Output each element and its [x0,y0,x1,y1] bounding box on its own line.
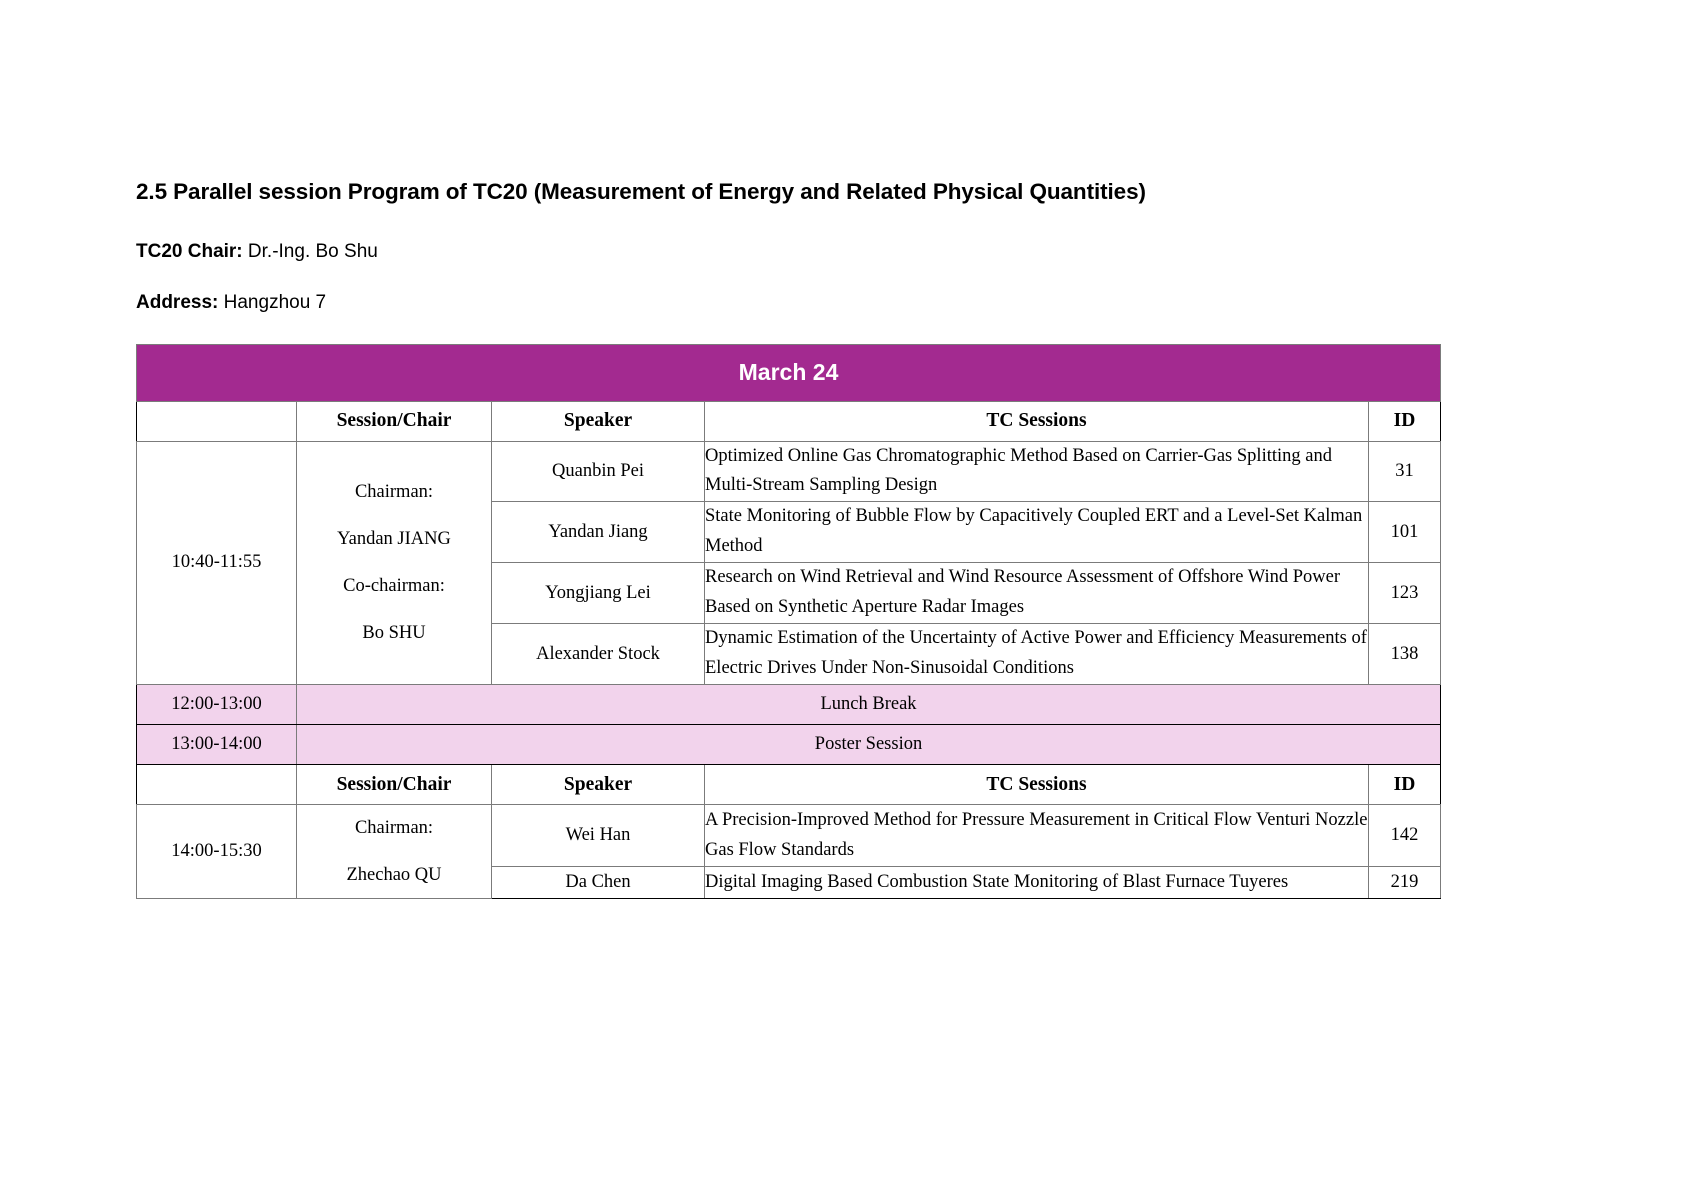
column-header-row-1: Session/Chair Speaker TC Sessions ID [137,401,1441,441]
day-header-cell: March 24 [137,344,1441,401]
tc20-chair-value: Dr.-Ing. Bo Shu [248,241,378,262]
table-row: 14:00-15:30 Chairman: Zhechao QU Wei Han… [137,805,1441,867]
session-title: Digital Imaging Based Combustion State M… [705,867,1369,899]
speaker-name: Da Chen [492,867,705,899]
column-header-speaker-1: Speaker [492,401,705,441]
session-1-chair-line-2: Co-chairman: [297,563,491,610]
column-header-session-chair-1: Session/Chair [297,401,492,441]
speaker-name: Yongjiang Lei [492,563,705,624]
lunch-break-time: 12:00-13:00 [137,685,297,725]
session-id: 138 [1369,624,1441,685]
lunch-break-row: 12:00-13:00 Lunch Break [137,685,1441,725]
column-header-id-1: ID [1369,401,1441,441]
session-2-chair-line-1: Zhechao QU [297,852,491,898]
session-id: 142 [1369,805,1441,867]
column-header-tc-sessions-2: TC Sessions [705,765,1369,805]
poster-session-row: 13:00-14:00 Poster Session [137,725,1441,765]
document-page: 2.5 Parallel session Program of TC20 (Me… [0,0,1683,1190]
column-header-time-2 [137,765,297,805]
session-id: 31 [1369,441,1441,502]
speaker-name: Wei Han [492,805,705,867]
session-title: Optimized Online Gas Chromatographic Met… [705,441,1369,502]
speaker-name: Yandan Jiang [492,502,705,563]
table-row: 10:40-11:55 Chairman: Yandan JIANG Co-ch… [137,441,1441,502]
speaker-name: Alexander Stock [492,624,705,685]
column-header-id-2: ID [1369,765,1441,805]
poster-session-time: 13:00-14:00 [137,725,297,765]
column-header-tc-sessions-1: TC Sessions [705,401,1369,441]
session-2-time: 14:00-15:30 [137,805,297,899]
session-title: Dynamic Estimation of the Uncertainty of… [705,624,1369,685]
tc20-chair-label: TC20 Chair: [136,241,243,262]
session-1-chair-line-3: Bo SHU [297,610,491,657]
session-1-time: 10:40-11:55 [137,441,297,685]
speaker-name: Quanbin Pei [492,441,705,502]
session-2-chairs: Chairman: Zhechao QU [297,805,492,899]
session-id: 101 [1369,502,1441,563]
page-content: 2.5 Parallel session Program of TC20 (Me… [136,178,1440,899]
session-title: A Precision-Improved Method for Pressure… [705,805,1369,867]
column-header-session-chair-2: Session/Chair [297,765,492,805]
session-2-chair-line-0: Chairman: [297,805,491,851]
address-value: Hangzhou 7 [224,292,326,313]
session-title: Research on Wind Retrieval and Wind Reso… [705,563,1369,624]
address-label: Address: [136,292,218,313]
schedule-table: March 24 Session/Chair Speaker TC Sessio… [136,344,1441,899]
lunch-break-label: Lunch Break [297,685,1441,725]
column-header-row-2: Session/Chair Speaker TC Sessions ID [137,765,1441,805]
poster-session-label: Poster Session [297,725,1441,765]
column-header-speaker-2: Speaker [492,765,705,805]
day-header-row: March 24 [137,344,1441,401]
page-title: 2.5 Parallel session Program of TC20 (Me… [136,178,1440,206]
session-id: 219 [1369,867,1441,899]
session-title: State Monitoring of Bubble Flow by Capac… [705,502,1369,563]
session-1-chair-line-0: Chairman: [297,469,491,516]
session-1-chair-line-1: Yandan JIANG [297,516,491,563]
address-line: Address: Hangzhou 7 [136,291,1440,316]
tc20-chair-line: TC20 Chair: Dr.-Ing. Bo Shu [136,240,1440,265]
session-1-chairs: Chairman: Yandan JIANG Co-chairman: Bo S… [297,441,492,685]
session-id: 123 [1369,563,1441,624]
column-header-time-1 [137,401,297,441]
